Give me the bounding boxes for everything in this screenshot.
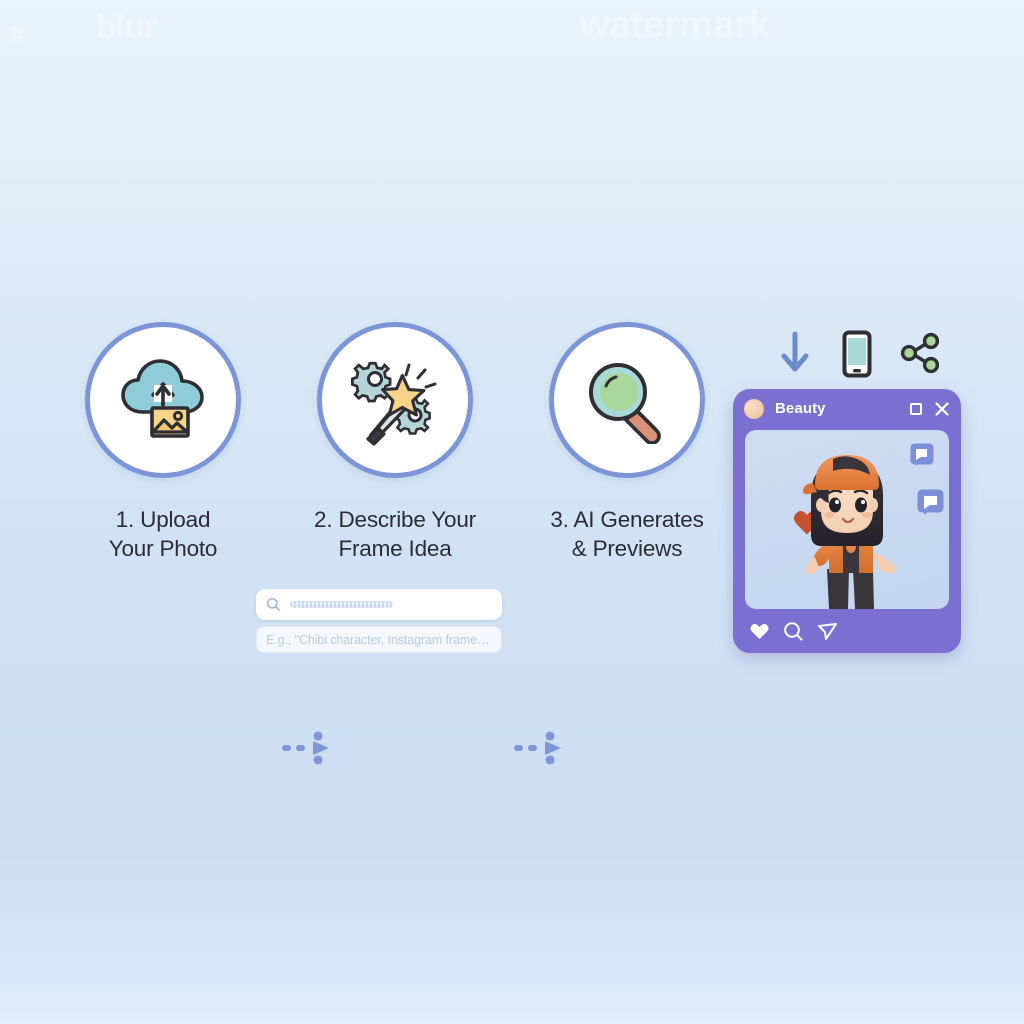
close-icon[interactable]: [934, 401, 950, 417]
prompt-hint-field[interactable]: E.g., "Chibi character, Instagram frame…: [256, 626, 502, 653]
step-1-circle: [85, 322, 241, 478]
mobile-phone-icon[interactable]: [842, 330, 872, 378]
step-1-label: 1. Upload Your Photo: [65, 505, 261, 563]
step-2-describe[interactable]: 2. Describe Your Frame Idea: [297, 322, 493, 563]
chat-bubble-sticker: [916, 488, 945, 517]
step-1-upload[interactable]: 1. Upload Your Photo: [65, 322, 261, 563]
prompt-search-input[interactable]: [256, 589, 502, 620]
magic-wand-gears-icon: [347, 353, 443, 447]
send-icon[interactable]: [817, 621, 838, 642]
top-actions-row: [770, 330, 945, 382]
download-icon[interactable]: [778, 330, 812, 376]
ghost-artifact: watermark: [580, 4, 770, 47]
ghost-artifact: blur: [96, 8, 156, 47]
arrow-step2-to-step3: [514, 730, 574, 766]
prompt-hint-text: E.g., "Chibi character, Instagram frame…: [266, 633, 489, 647]
ghost-artifact: a: [10, 16, 23, 47]
prompt-area: E.g., "Chibi character, Instagram frame…: [256, 589, 502, 653]
card-social-actions: [733, 609, 961, 653]
search-icon[interactable]: [783, 621, 804, 642]
like-heart-icon[interactable]: [749, 622, 770, 641]
step-3-label: 3. AI Generates & Previews: [529, 505, 725, 563]
share-icon[interactable]: [898, 330, 942, 376]
card-titlebar: Beauty: [733, 389, 961, 428]
magnifying-glass-icon: [582, 356, 672, 444]
step-2-label: 2. Describe Your Frame Idea: [297, 505, 493, 563]
step-3-generate[interactable]: 3. AI Generates & Previews: [529, 322, 725, 563]
search-placeholder-bar: [290, 601, 393, 608]
card-title: Beauty: [775, 400, 826, 417]
chibi-character-illustration: [777, 443, 917, 609]
search-icon: [266, 597, 281, 612]
step-2-circle: [317, 322, 473, 478]
step-3-circle: [549, 322, 705, 478]
background-artifacts: a blur watermark: [0, 0, 1024, 58]
card-preview-screen: [745, 430, 949, 609]
preview-card[interactable]: Beauty: [733, 389, 961, 653]
arrow-step1-to-step2: [282, 730, 342, 766]
steps-row: 1. Upload Your Photo: [52, 322, 752, 582]
avatar: [744, 399, 764, 419]
cloud-upload-photo-icon: [117, 356, 209, 444]
page-root: a blur watermark 1.: [0, 0, 1024, 1024]
maximize-button[interactable]: [910, 403, 922, 415]
window-buttons: [910, 401, 950, 417]
